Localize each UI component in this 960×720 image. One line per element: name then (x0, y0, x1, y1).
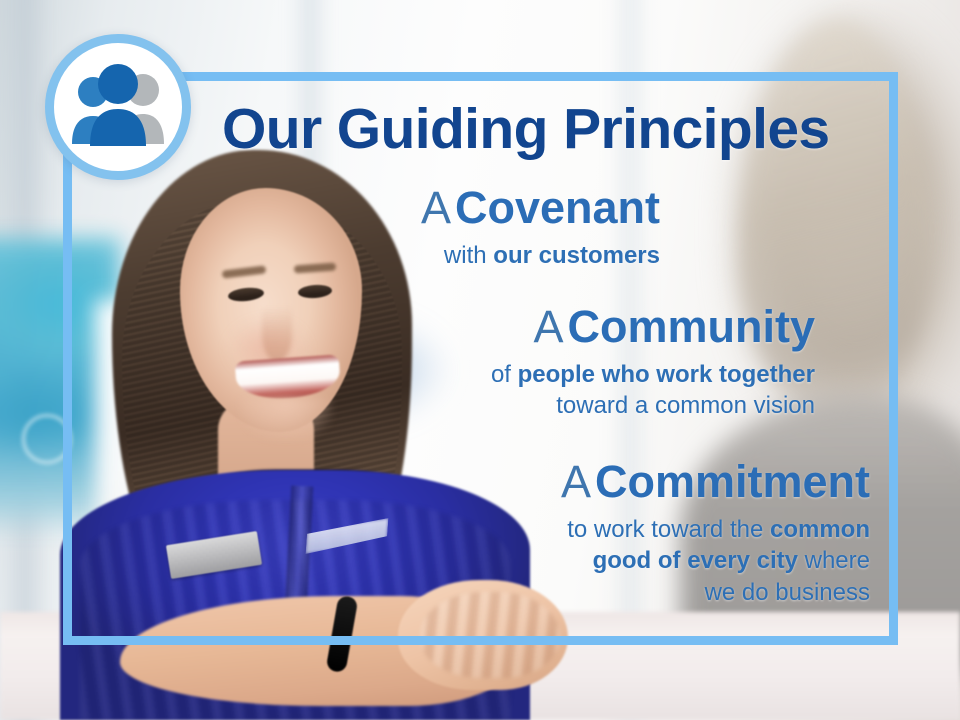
principle-subtext-line: toward a common vision (395, 390, 815, 421)
principle-commitment-word: Commitment (595, 456, 870, 507)
principle-commitment-subtext: to work toward the commongood of every c… (455, 514, 870, 608)
employee-nose (262, 306, 292, 362)
principle-subtext-line: good of every city where (455, 545, 870, 576)
group-of-people-icon (67, 62, 169, 152)
principle-covenant-title: ACovenant (355, 184, 660, 231)
page-title: Our Guiding Principles (222, 96, 830, 162)
plain-text: where (798, 547, 870, 574)
guiding-principles-banner: Our Guiding Principles ACovenant with ou… (0, 0, 960, 720)
principle-community-word: Community (568, 301, 816, 352)
employee-chin (240, 398, 332, 440)
principle-commitment-article: A (561, 456, 591, 507)
principle-covenant: ACovenant with our customers (355, 184, 660, 271)
principle-covenant-word: Covenant (455, 182, 660, 233)
emphasis-text: common (770, 516, 870, 543)
emphasis-text: our customers (493, 242, 660, 269)
principle-community: ACommunity of people who work togetherto… (395, 303, 815, 422)
plain-text: we do business (705, 579, 870, 606)
emphasis-text: good of every city (593, 547, 798, 574)
emphasis-text: people who work together (518, 361, 815, 388)
plain-text: of (491, 361, 518, 388)
principle-commitment-title: ACommitment (455, 458, 870, 505)
plain-text: to work toward the (567, 516, 770, 543)
principle-community-title: ACommunity (395, 303, 815, 350)
plain-text: toward a common vision (556, 392, 815, 419)
principle-subtext-line: of people who work together (395, 359, 815, 390)
principle-commitment: ACommitment to work toward the commongoo… (455, 458, 870, 608)
principle-community-subtext: of people who work togethertoward a comm… (395, 359, 815, 421)
principle-subtext-line: to work toward the common (455, 514, 870, 545)
principle-subtext-line: with our customers (355, 240, 660, 271)
principle-subtext-line: we do business (455, 577, 870, 608)
principle-covenant-article: A (421, 182, 451, 233)
principle-community-article: A (533, 301, 563, 352)
plain-text: with (444, 242, 493, 269)
principle-covenant-subtext: with our customers (355, 240, 660, 271)
blurred-car-badge-icon (22, 414, 72, 464)
